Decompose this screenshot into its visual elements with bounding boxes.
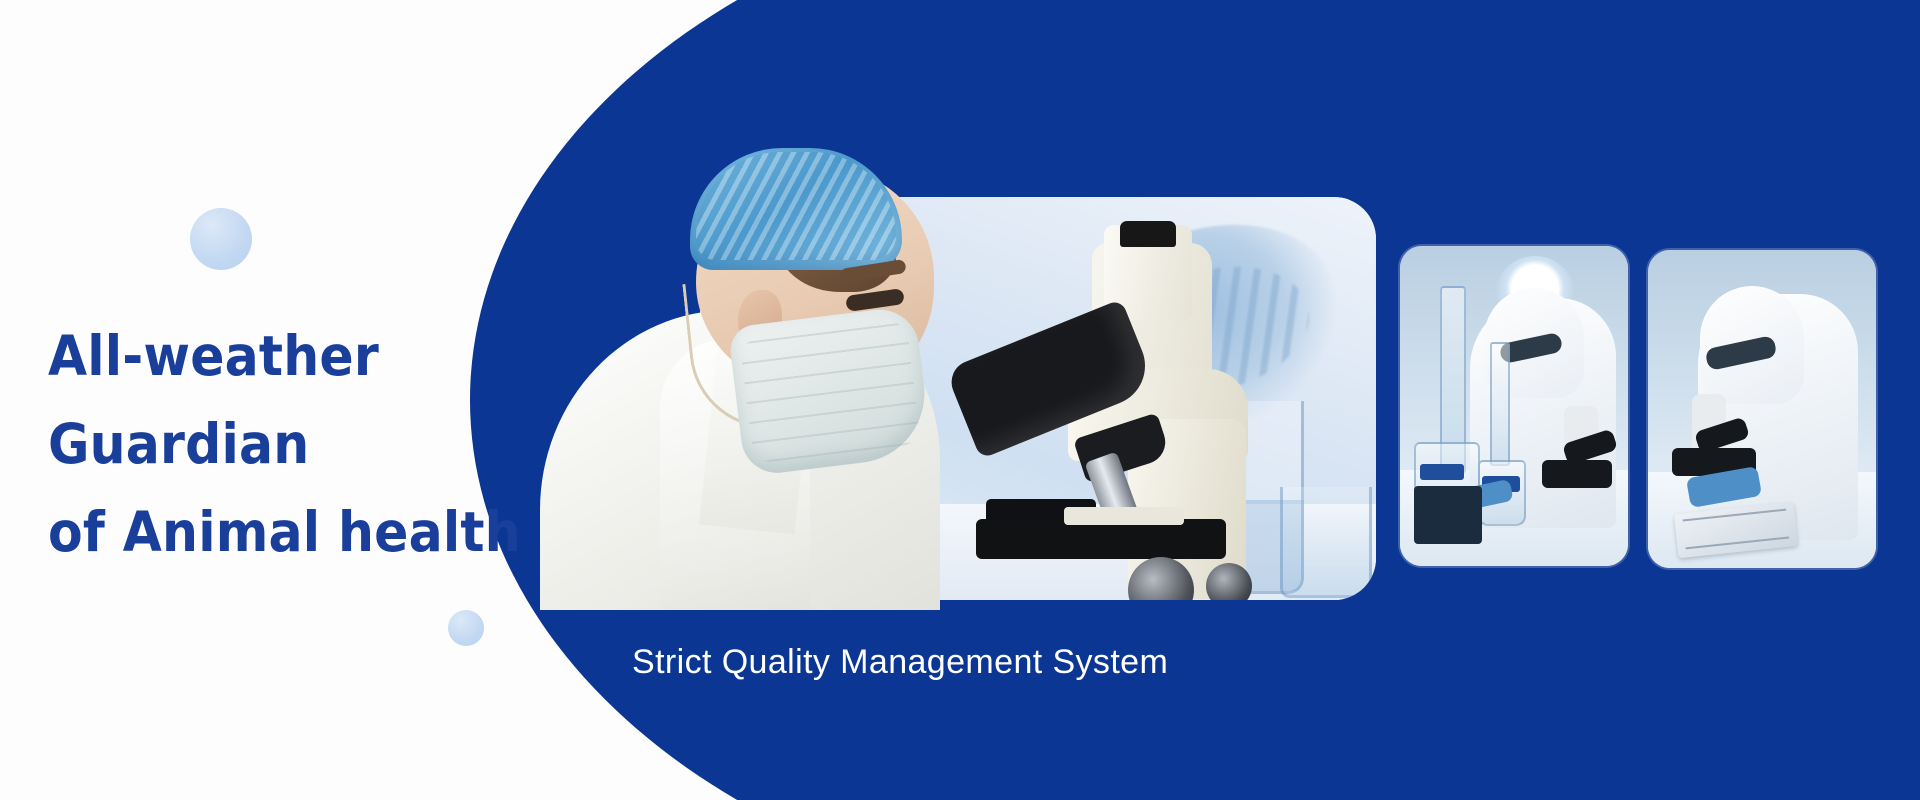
microscope-icon [1652,368,1762,476]
decorative-circle-large [190,208,252,270]
lab-technician-figure [540,230,970,610]
microscope-icon [968,219,1298,600]
decorative-circle-small [448,610,484,646]
microscope-icon [1526,398,1622,488]
surgical-cap-icon [690,148,902,270]
headline-line-1: All-weather [48,312,521,400]
side-photo-card-2 [1648,250,1876,568]
page-title: All-weather Guardian of Animal health [48,312,521,576]
dark-bottle [1414,486,1482,544]
side-photo-card-1 [1400,246,1628,566]
hero-banner: 100 75 50 [0,0,1920,800]
bottle-cap [1420,464,1464,480]
headline-line-3: of Animal health [48,488,521,576]
banner-caption: Strict Quality Management System [632,643,1168,682]
headline-line-2: Guardian [48,400,521,488]
